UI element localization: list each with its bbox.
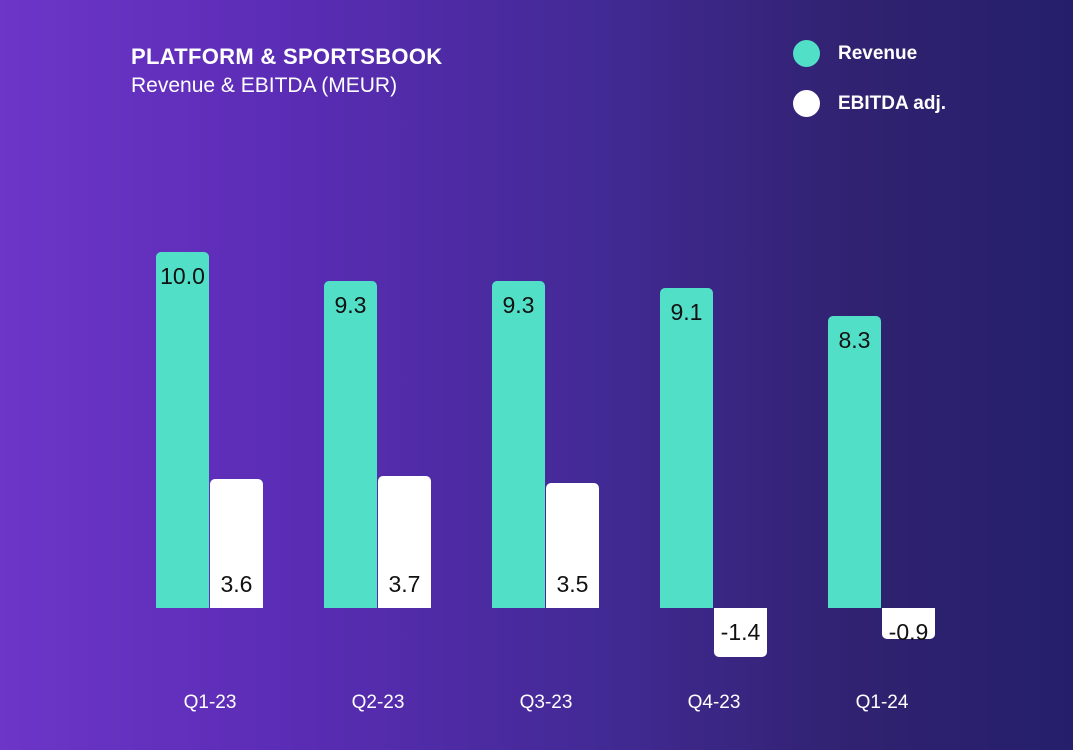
bar-ebitda: -1.4 bbox=[714, 608, 767, 657]
bar-value-label: 3.5 bbox=[546, 573, 599, 596]
bar-value-label: 3.7 bbox=[378, 573, 431, 596]
bar-revenue: 9.3 bbox=[324, 281, 377, 608]
bar-value-label: -1.4 bbox=[714, 621, 767, 644]
axis-label-q3-23: Q3-23 bbox=[486, 692, 606, 714]
bar-value-label: 8.3 bbox=[828, 329, 881, 352]
bar-group: 8.3 -0.9 bbox=[828, 0, 948, 750]
axis-label-q4-23: Q4-23 bbox=[654, 692, 774, 714]
bar-value-label: 9.1 bbox=[660, 301, 713, 324]
bar-value-label: 3.6 bbox=[210, 573, 263, 596]
bar-value-label: 9.3 bbox=[492, 294, 545, 317]
bar-revenue: 8.3 bbox=[828, 316, 881, 608]
axis-label-q2-23: Q2-23 bbox=[318, 692, 438, 714]
bar-group: 9.3 3.5 bbox=[492, 0, 612, 750]
axis-label-q1-23: Q1-23 bbox=[150, 692, 270, 714]
bar-ebitda: 3.6 bbox=[210, 479, 263, 608]
bar-group: 9.1 -1.4 bbox=[660, 0, 780, 750]
category-axis: Q1-23 Q2-23 Q3-23 Q4-23 Q1-24 bbox=[0, 692, 1073, 722]
bar-group: 10.0 3.6 bbox=[156, 0, 276, 750]
bar-value-label: 10.0 bbox=[156, 265, 209, 288]
bar-value-label: 9.3 bbox=[324, 294, 377, 317]
slide-canvas: PLATFORM & SPORTSBOOK Revenue & EBITDA (… bbox=[0, 0, 1073, 750]
bar-revenue: 10.0 bbox=[156, 252, 209, 608]
axis-label-q1-24: Q1-24 bbox=[822, 692, 942, 714]
bar-chart-plot: 10.0 3.6 9.3 3.7 9.3 3.5 bbox=[0, 0, 1073, 750]
bar-value-label: -0.9 bbox=[882, 621, 935, 644]
bar-revenue: 9.3 bbox=[492, 281, 545, 608]
bar-group: 9.3 3.7 bbox=[324, 0, 444, 750]
bar-ebitda: -0.9 bbox=[882, 608, 935, 639]
bar-ebitda: 3.7 bbox=[378, 476, 431, 608]
bar-ebitda: 3.5 bbox=[546, 483, 599, 608]
bar-revenue: 9.1 bbox=[660, 288, 713, 608]
